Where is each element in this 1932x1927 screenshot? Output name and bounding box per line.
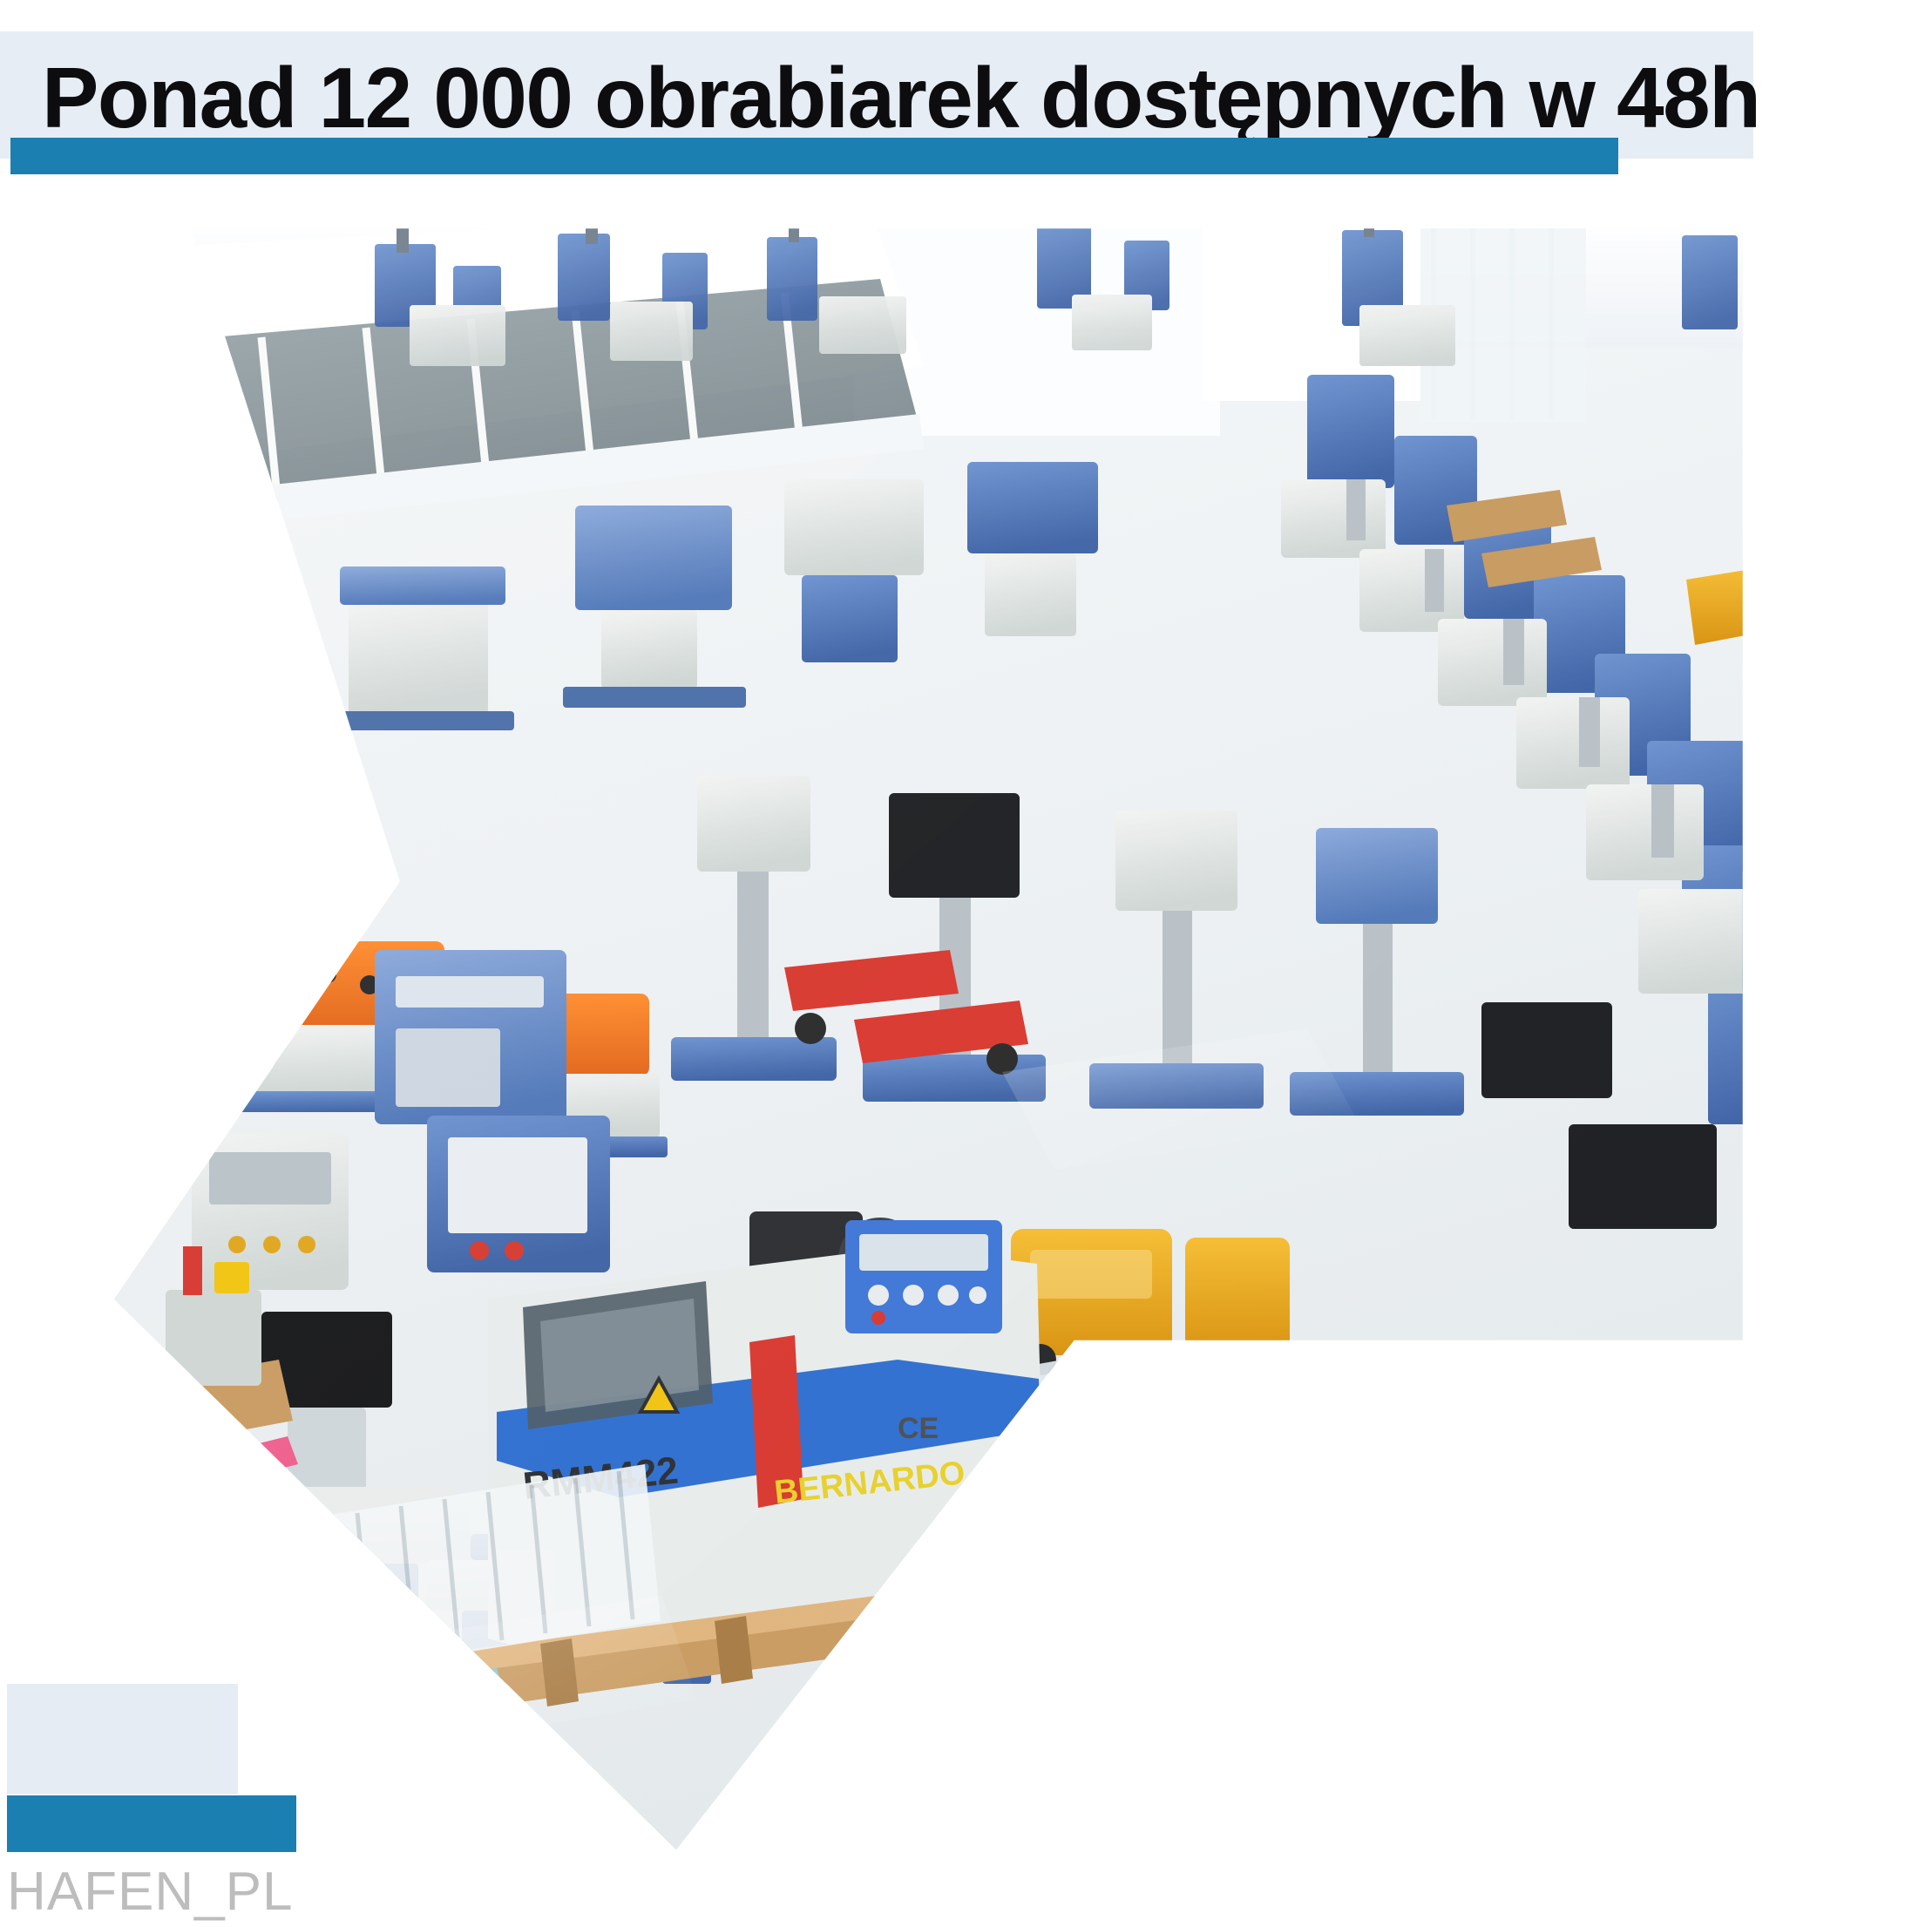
machine-hall-illustration: CE RMM422 BERNARDO: [0, 218, 1932, 1856]
brand-accent-bar: [7, 1795, 296, 1852]
brand-panel-light: [7, 1684, 238, 1795]
orange-machine: [35, 889, 292, 1067]
brand-name: HAFEN_PL: [7, 1863, 293, 1921]
page-title: Ponad 12 000 obrabiarek dostępnych w 48h: [42, 52, 1760, 143]
header-accent-bar: [10, 138, 1618, 174]
machine-hall-photo: CE RMM422 BERNARDO: [0, 218, 1932, 1856]
foreground-white-cabinets: [1377, 1403, 1847, 1856]
